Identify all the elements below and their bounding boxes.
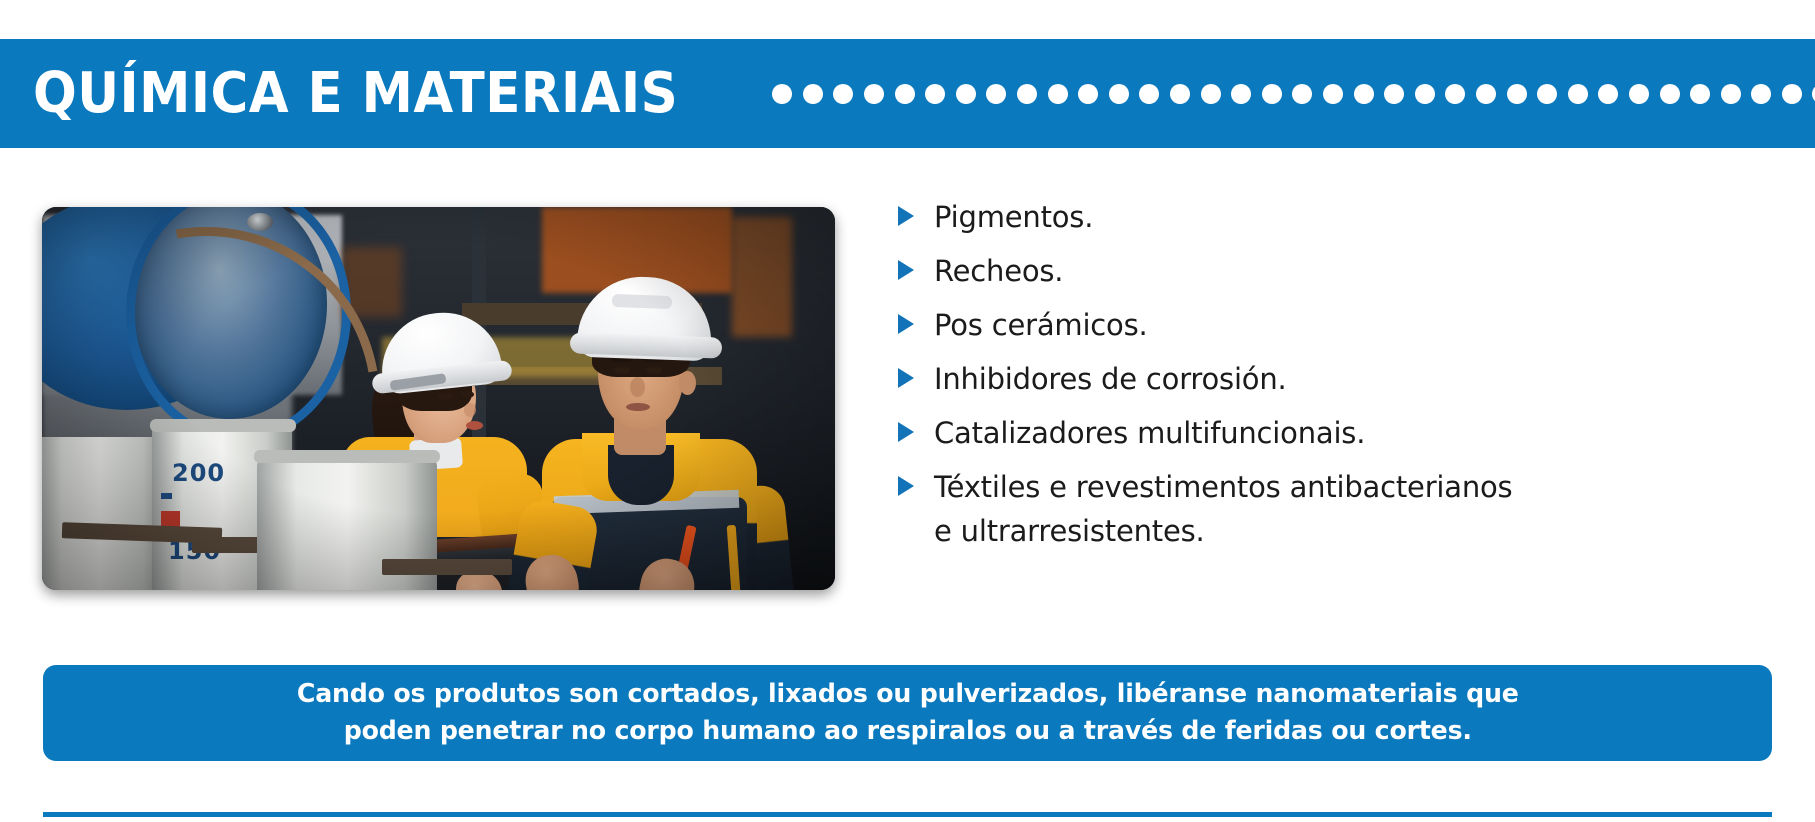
- header-dot-decoration: [772, 84, 1815, 104]
- decorative-dot: [864, 84, 884, 104]
- decorative-dot: [1415, 84, 1435, 104]
- decorative-dot: [1292, 84, 1312, 104]
- triangle-right-icon: [898, 476, 914, 496]
- decorative-dot: [1721, 84, 1741, 104]
- list-item-label: Catalizadores multifuncionais.: [934, 411, 1365, 455]
- warning-callout-text: Cando os produtos son cortados, lixados …: [297, 676, 1519, 750]
- footer-divider: [43, 812, 1772, 817]
- list-item: Pigmentos.: [898, 195, 1758, 239]
- decorative-dot: [1201, 84, 1221, 104]
- decorative-dot: [772, 84, 792, 104]
- decorative-dot: [1354, 84, 1374, 104]
- photo-canvas: 200 150: [42, 207, 835, 590]
- decorative-dot: [1139, 84, 1159, 104]
- list-item: Recheos.: [898, 249, 1758, 293]
- list-item: Inhibidores de corrosión.: [898, 357, 1758, 401]
- warning-callout-banner: Cando os produtos son cortados, lixados …: [43, 665, 1772, 761]
- list-item-label: Recheos.: [934, 249, 1063, 293]
- decorative-dot: [1109, 84, 1129, 104]
- decorative-dot: [1629, 84, 1649, 104]
- content-row: 200 150: [0, 185, 1815, 625]
- decorative-dot: [1537, 84, 1557, 104]
- triangle-right-icon: [898, 314, 914, 334]
- decorative-dot: [1170, 84, 1190, 104]
- decorative-dot: [1078, 84, 1098, 104]
- list-item: Catalizadores multifuncionais.: [898, 411, 1758, 455]
- list-item-label: Pigmentos.: [934, 195, 1093, 239]
- decorative-dot: [1598, 84, 1618, 104]
- list-item: Téxtiles e revestimentos antibacterianos…: [898, 465, 1758, 553]
- decorative-dot: [1507, 84, 1527, 104]
- decorative-dot: [1445, 84, 1465, 104]
- decorative-dot: [1048, 84, 1068, 104]
- list-item-label: Pos cerámicos.: [934, 303, 1148, 347]
- decorative-dot: [925, 84, 945, 104]
- triangle-right-icon: [898, 422, 914, 442]
- decorative-dot: [833, 84, 853, 104]
- decorative-dot: [1660, 84, 1680, 104]
- list-item-label: Inhibidores de corrosión.: [934, 357, 1287, 401]
- decorative-dot: [895, 84, 915, 104]
- decorative-dot: [803, 84, 823, 104]
- decorative-dot: [1751, 84, 1771, 104]
- decorative-dot: [1690, 84, 1710, 104]
- photo-vignette: [42, 207, 835, 590]
- decorative-dot: [1384, 84, 1404, 104]
- decorative-dot: [1782, 84, 1802, 104]
- decorative-dot: [1017, 84, 1037, 104]
- materials-list: Pigmentos. Recheos. Pos cerámicos. Inhib…: [898, 195, 1758, 563]
- triangle-right-icon: [898, 260, 914, 280]
- triangle-right-icon: [898, 206, 914, 226]
- page-title: QUÍMICA E MATERIAIS: [33, 66, 678, 122]
- decorative-dot: [1476, 84, 1496, 104]
- decorative-dot: [1568, 84, 1588, 104]
- decorative-dot: [1262, 84, 1282, 104]
- triangle-right-icon: [898, 368, 914, 388]
- list-item-label: Téxtiles e revestimentos antibacterianos…: [934, 465, 1512, 553]
- decorative-dot: [1323, 84, 1343, 104]
- section-header-band: QUÍMICA E MATERIAIS: [0, 39, 1815, 148]
- decorative-dot: [956, 84, 976, 104]
- decorative-dot: [1231, 84, 1251, 104]
- decorative-dot: [986, 84, 1006, 104]
- list-item: Pos cerámicos.: [898, 303, 1758, 347]
- workers-photo: 200 150: [42, 207, 835, 590]
